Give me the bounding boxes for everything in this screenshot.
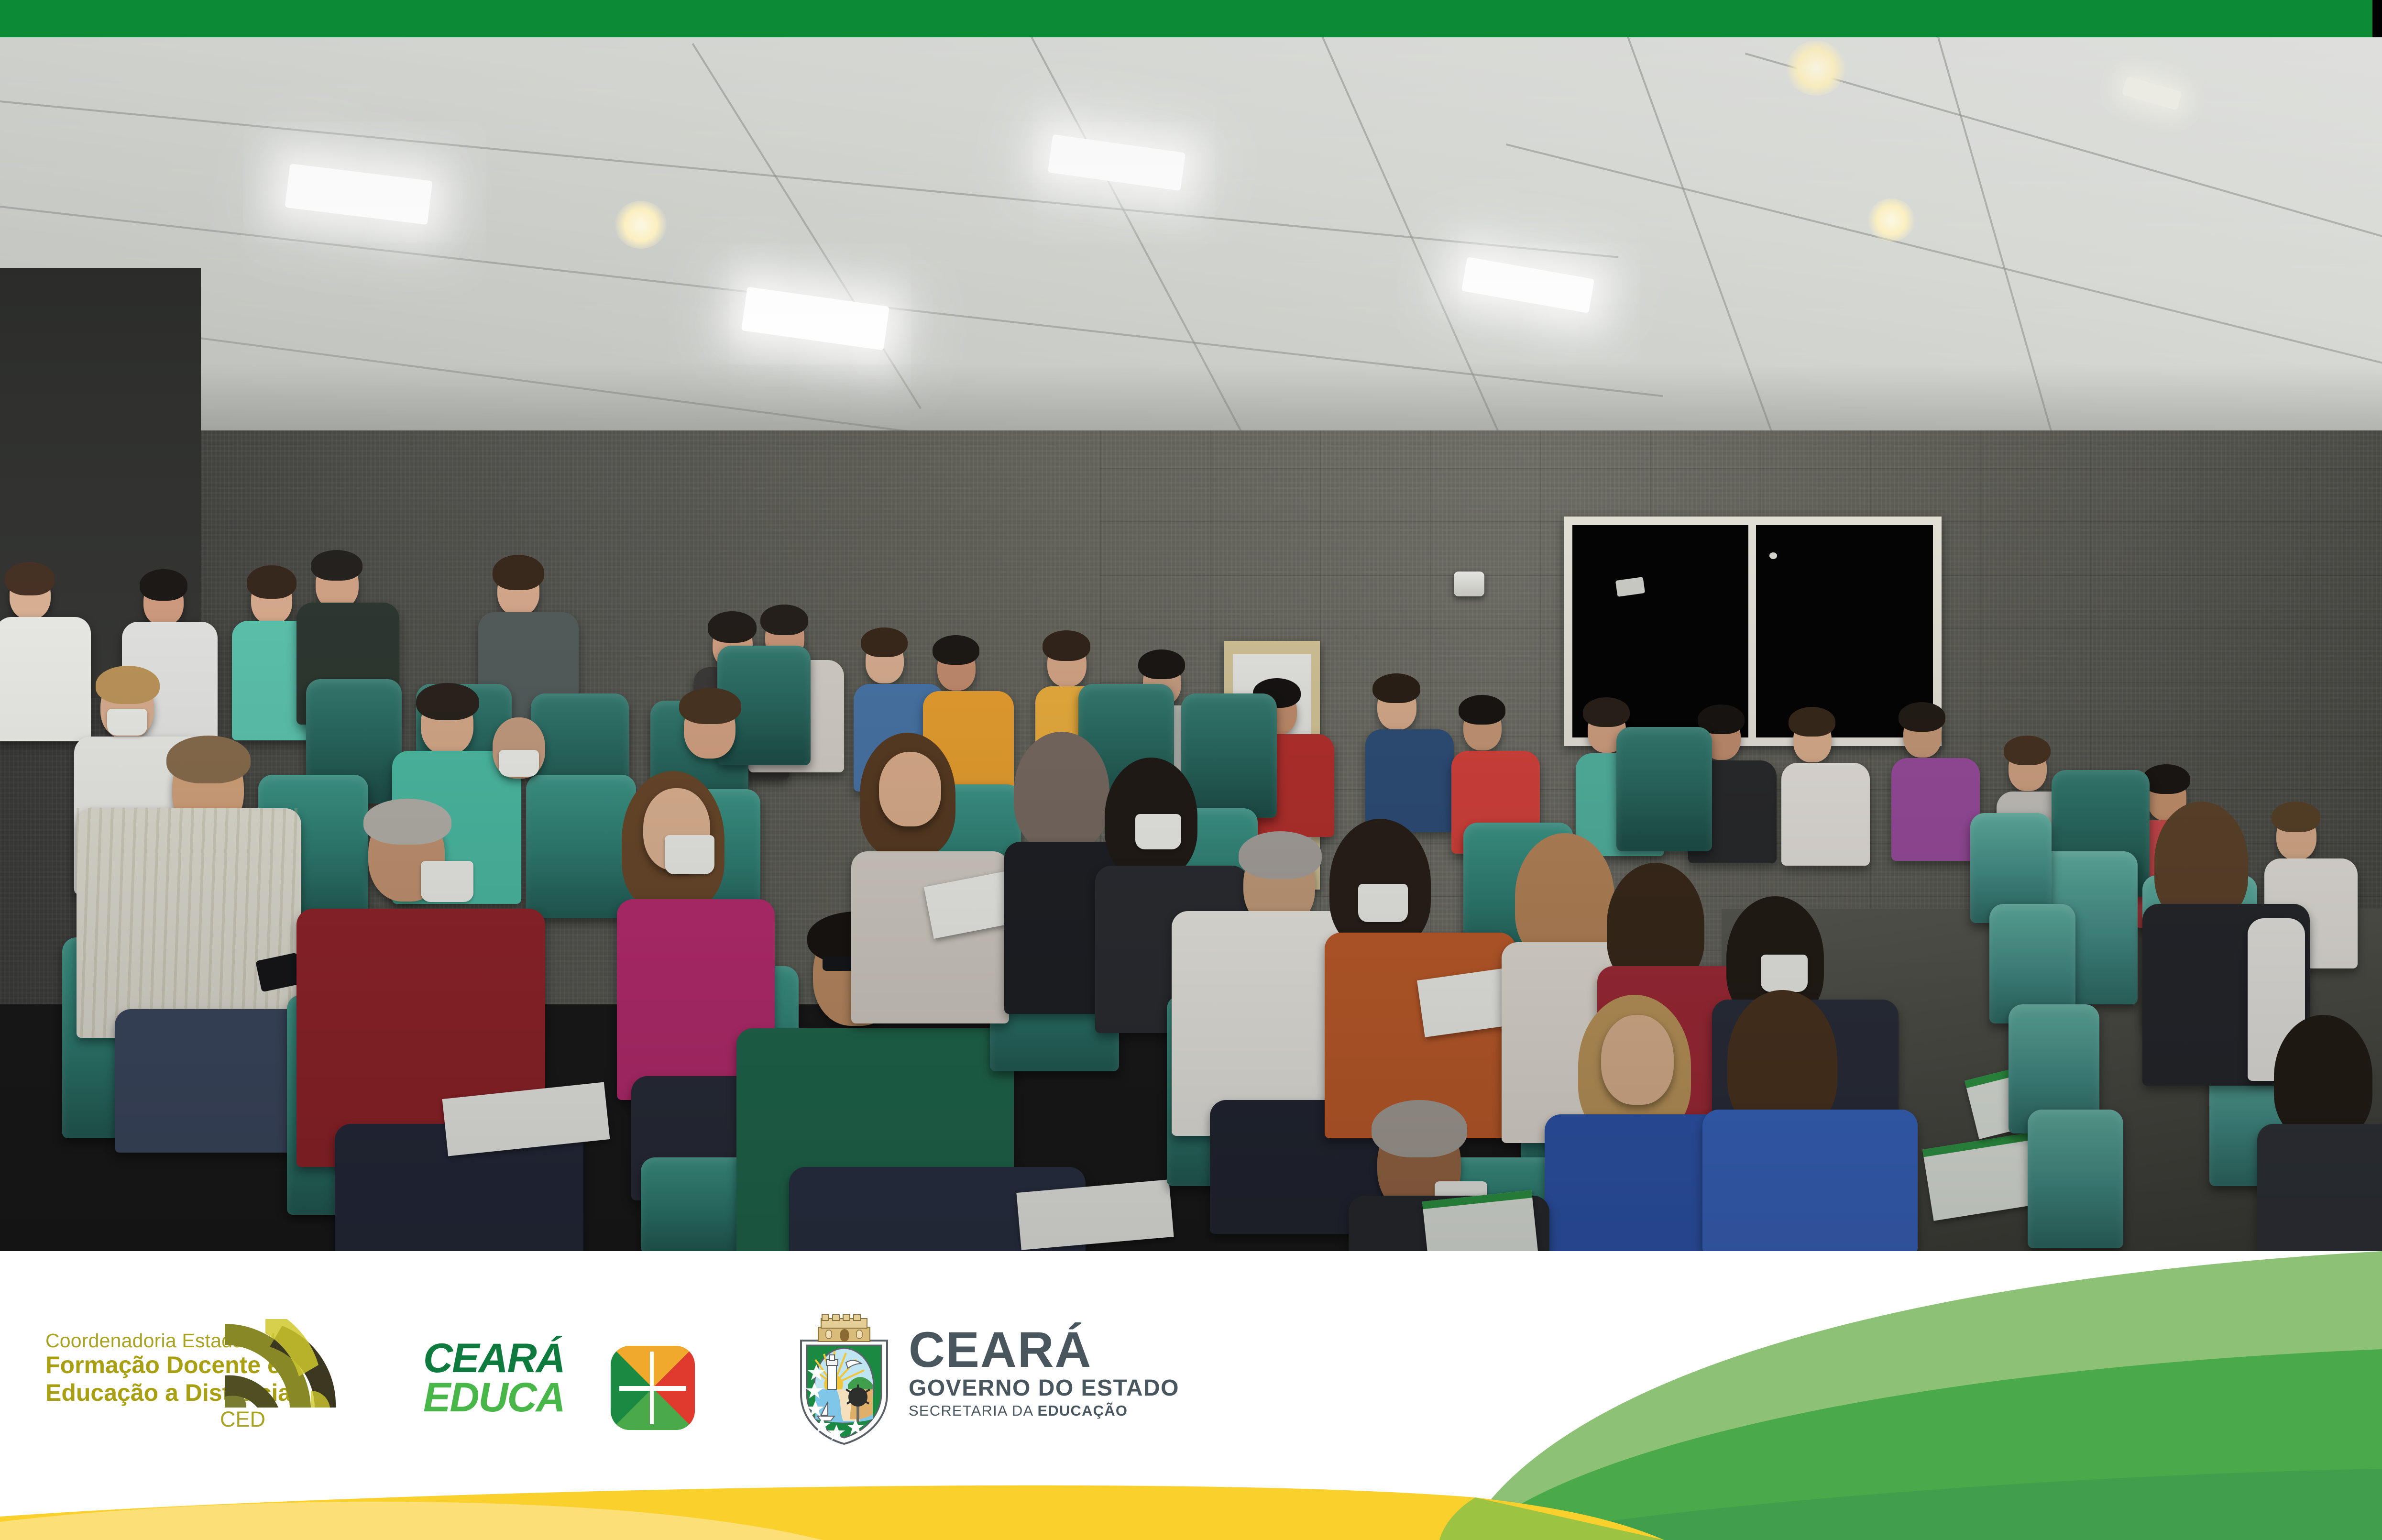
attendee-hair <box>1372 673 1420 703</box>
attendee-hair <box>679 688 741 724</box>
attendee-hair <box>1239 831 1322 879</box>
attendee-hair <box>247 565 296 599</box>
ceara-educa-wordmark: CEARÁ EDUCA <box>423 1339 615 1417</box>
spot-light <box>1867 198 1915 242</box>
attendee-hair <box>1372 1100 1467 1157</box>
attendee-hair <box>2272 802 2320 832</box>
ceara-educa-word-1: CEARÁ <box>423 1339 615 1378</box>
face-mask <box>1135 814 1181 849</box>
ceara-coat-of-arms-icon <box>796 1313 892 1447</box>
attendee-hair <box>1329 819 1431 948</box>
attendee-hair <box>2142 764 2190 794</box>
ceara-educa-word-2: EDUCA <box>423 1378 615 1418</box>
window-reflection <box>1769 552 1777 559</box>
attendee-hair <box>1583 697 1630 727</box>
face-mask <box>421 861 473 902</box>
attendee-hair <box>416 683 479 720</box>
attendee-body <box>1365 729 1454 832</box>
face-mask <box>499 750 539 777</box>
attendee-face <box>1601 1015 1674 1105</box>
footer: Coordenadoria Estadual de Formação Docen… <box>0 1251 2382 1540</box>
face-mask <box>665 835 714 874</box>
top-green-bar <box>0 0 2372 37</box>
seat <box>1181 693 1277 818</box>
seat <box>526 775 636 918</box>
attendee-hair <box>1459 695 1505 725</box>
attendee-hair <box>363 799 451 845</box>
attendee-hair <box>1515 833 1614 960</box>
seat <box>1616 727 1712 851</box>
event-leaflet <box>1422 1190 1538 1251</box>
attendee-body <box>0 617 91 741</box>
poster-page: Coordenadoria Estadual de Formação Docen… <box>0 0 2382 1540</box>
attendee-hair <box>760 605 808 635</box>
attendee-hair <box>1043 630 1090 661</box>
governo-word-estado: GOVERNO DO ESTADO <box>909 1376 1179 1401</box>
governo-wordmark: CEARÁ GOVERNO DO ESTADO SECRETARIA DA ED… <box>909 1326 1179 1419</box>
attendee-body <box>1891 758 1980 861</box>
auditorium-photo <box>0 0 2382 1251</box>
attendee-hair <box>493 555 544 590</box>
attendee-hair <box>933 635 979 665</box>
face-mask <box>107 709 147 736</box>
top-bar-right-notch <box>2372 0 2382 37</box>
seat <box>2028 1110 2123 1248</box>
spot-light <box>615 201 667 249</box>
governo-word-secretaria: SECRETARIA DA EDUCAÇÃO <box>909 1403 1179 1419</box>
attendee-hair <box>1899 702 1945 732</box>
attendee-hair <box>96 666 160 704</box>
governo-word-ceara: CEARÁ <box>909 1326 1179 1374</box>
attendee-hair <box>1138 649 1185 679</box>
secretaria-light: SECRETARIA DA <box>909 1402 1037 1419</box>
wall-speaker-icon <box>1454 572 1484 596</box>
attendee-body <box>2257 1124 2382 1251</box>
ceara-educa-logo: CEARÁ EDUCA <box>423 1339 696 1437</box>
attendee-hair <box>140 569 187 601</box>
governo-ceara-logo: CEARÁ GOVERNO DO ESTADO SECRETARIA DA ED… <box>796 1313 1193 1456</box>
ced-logo: Coordenadoria Estadual de Formação Docen… <box>45 1321 342 1455</box>
attendee-hair <box>2154 802 2248 921</box>
attendee-hair <box>5 562 55 595</box>
face-mask <box>1761 955 1808 992</box>
attendee-body <box>1702 1110 1918 1251</box>
attendee-hair <box>1789 707 1835 737</box>
face-mask <box>1358 884 1408 922</box>
ceara-educa-cross-icon <box>610 1345 696 1431</box>
attendee-hair <box>2274 1015 2372 1139</box>
attendee-hair <box>311 550 362 581</box>
spot-light <box>1786 41 1846 96</box>
attendee-hair <box>1014 732 1109 851</box>
attendee-hair <box>2004 736 2051 765</box>
shirt-stripes <box>77 808 301 1038</box>
attendee-hair <box>166 736 251 783</box>
attendee-hair <box>861 627 908 657</box>
attendee-face <box>879 752 941 826</box>
secretaria-bold: EDUCAÇÃO <box>1037 1402 1128 1419</box>
wifi-arcs-icon <box>220 1319 340 1431</box>
attendee-hair <box>708 611 757 643</box>
attendee-body <box>1781 763 1870 866</box>
